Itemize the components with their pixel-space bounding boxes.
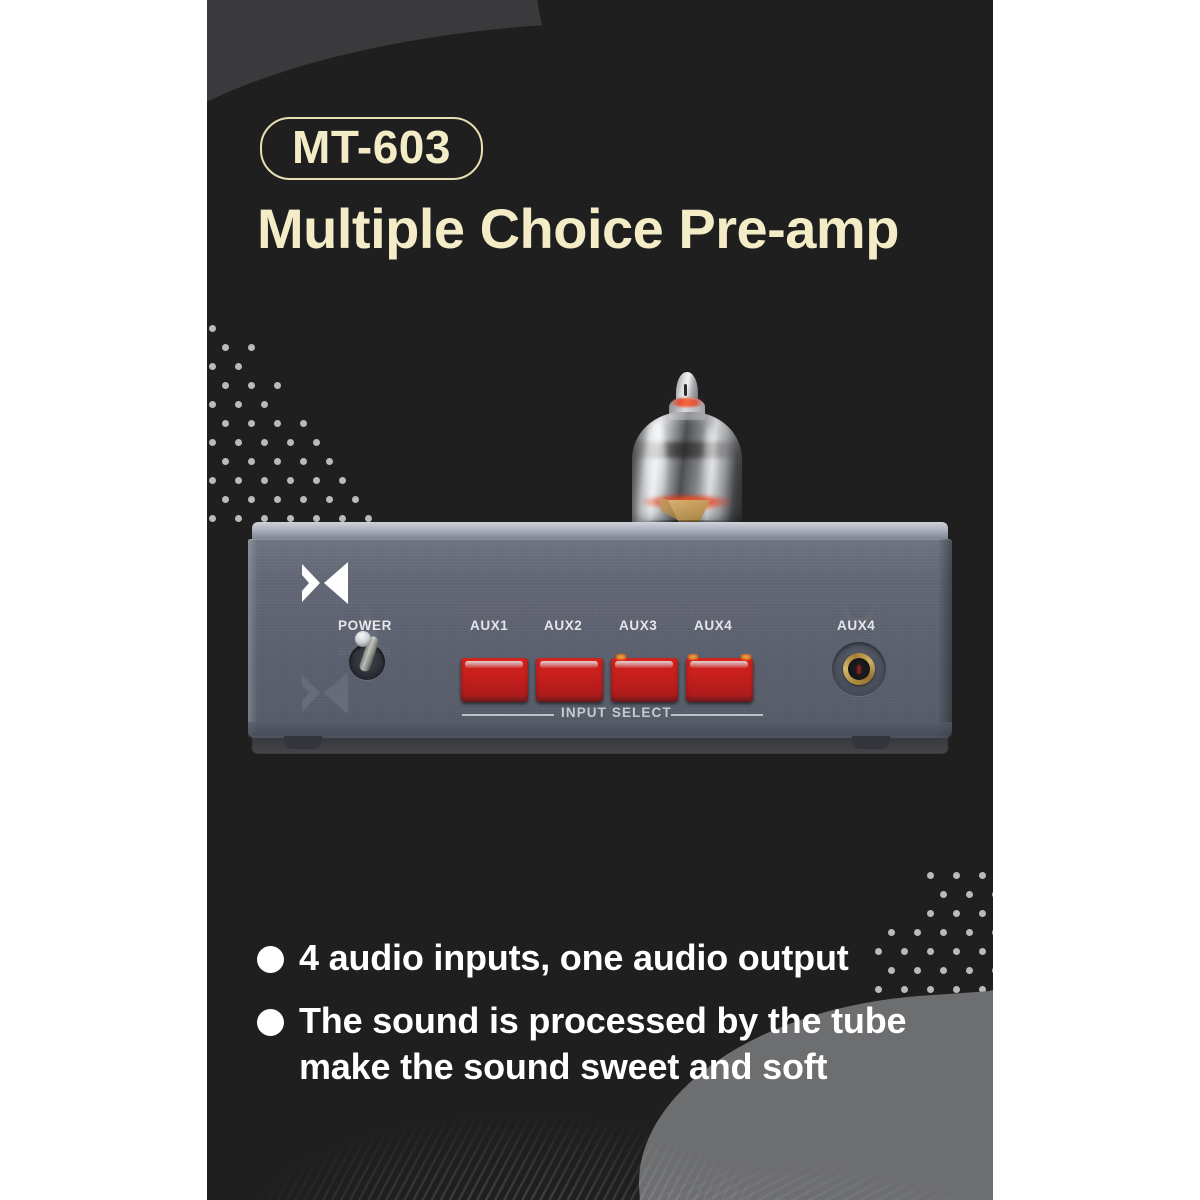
- feature-list: 4 audio inputs, one audio output The sou…: [257, 935, 977, 1107]
- power-switch[interactable]: [349, 644, 385, 680]
- grid-dot: [274, 382, 281, 389]
- grid-dot: [940, 891, 947, 898]
- poster-root: MT-603 Multiple Choice Pre-amp: [0, 0, 1200, 1200]
- grid-dot: [222, 496, 229, 503]
- feature-text-1: 4 audio inputs, one audio output: [299, 935, 849, 980]
- grid-dot: [953, 872, 960, 879]
- grid-dot: [365, 515, 372, 522]
- tube-neck-glow: [670, 398, 704, 407]
- grid-dot: [248, 458, 255, 465]
- grid-dot: [953, 910, 960, 917]
- grid-dot: [235, 515, 242, 522]
- grid-dot: [248, 420, 255, 427]
- grid-dot: [235, 401, 242, 408]
- grid-dot: [287, 515, 294, 522]
- grid-dot: [248, 496, 255, 503]
- headphone-jack[interactable]: [832, 642, 886, 696]
- jack-inner-contact: [857, 665, 861, 674]
- input-button-aux2[interactable]: [536, 658, 603, 702]
- grid-dot: [979, 872, 986, 879]
- grid-dot: [992, 967, 993, 974]
- chassis-foot-left: [284, 736, 322, 749]
- led-indicator-aux4: [688, 654, 698, 660]
- grid-dot: [966, 891, 973, 898]
- grid-dot: [209, 439, 216, 446]
- grid-dot: [339, 477, 346, 484]
- grid-dot: [326, 496, 333, 503]
- grid-dot: [235, 439, 242, 446]
- preamp-device: POWER AUX1 AUX2 AUX3 AUX4 INPUT SELECT A…: [248, 522, 952, 754]
- grid-dot: [927, 872, 934, 879]
- grid-dot: [248, 382, 255, 389]
- grid-dot: [326, 458, 333, 465]
- grid-dot: [287, 439, 294, 446]
- input-button-aux4[interactable]: [686, 658, 753, 702]
- grid-dot: [300, 420, 307, 427]
- grid-dot: [274, 458, 281, 465]
- aux4-label: AUX4: [694, 618, 732, 633]
- grid-dot: [287, 477, 294, 484]
- grid-dot: [979, 910, 986, 917]
- grid-dot: [339, 515, 346, 522]
- grid-dot: [992, 929, 993, 936]
- grid-dot: [313, 515, 320, 522]
- led-indicator-aux4-right: [741, 654, 751, 660]
- input-select-rule-right: [671, 714, 763, 716]
- grid-dot: [209, 363, 216, 370]
- grid-dot: [313, 477, 320, 484]
- bullet-dot-icon: [257, 1009, 284, 1036]
- input-select-label: INPUT SELECT: [561, 705, 672, 720]
- aux3-label: AUX3: [619, 618, 657, 633]
- input-select-rule-left: [462, 714, 554, 716]
- chassis-right-bevel: [938, 539, 952, 734]
- chassis-bottom-edge: [248, 722, 952, 738]
- jack-hole: [848, 658, 870, 680]
- jack-gold-ring: [843, 653, 875, 685]
- tube-glass-envelope: [632, 412, 742, 530]
- grid-dot: [261, 477, 268, 484]
- grid-dot: [927, 910, 934, 917]
- input-button-aux1[interactable]: [461, 658, 528, 702]
- grid-dot: [222, 458, 229, 465]
- grid-dot: [222, 382, 229, 389]
- output-jack-label: AUX4: [837, 618, 875, 633]
- grid-dot: [261, 439, 268, 446]
- led-indicator-aux3: [616, 654, 626, 660]
- grid-dot: [248, 344, 255, 351]
- grid-dot: [209, 325, 216, 332]
- grid-dot: [209, 515, 216, 522]
- model-badge: MT-603: [260, 117, 483, 180]
- grid-dot: [992, 891, 993, 898]
- feature-text-2: The sound is processed by the tube make …: [299, 998, 906, 1089]
- grid-dot: [300, 496, 307, 503]
- page-title: Multiple Choice Pre-amp: [257, 196, 987, 261]
- xduoo-logo-icon: [300, 558, 352, 610]
- aux2-label: AUX2: [544, 618, 582, 633]
- grid-dot: [313, 439, 320, 446]
- feature-item-2: The sound is processed by the tube make …: [257, 998, 977, 1089]
- grid-dot: [235, 363, 242, 370]
- feature-item-1: 4 audio inputs, one audio output: [257, 935, 977, 980]
- grid-dot: [352, 496, 359, 503]
- grid-dot: [235, 477, 242, 484]
- grid-dot: [979, 948, 986, 955]
- grid-dot: [209, 401, 216, 408]
- grid-dot: [274, 496, 281, 503]
- grid-dot: [261, 515, 268, 522]
- aux1-label: AUX1: [470, 618, 508, 633]
- bullet-dot-icon: [257, 946, 284, 973]
- grid-dot: [222, 420, 229, 427]
- poster-canvas: MT-603 Multiple Choice Pre-amp: [207, 0, 993, 1200]
- input-button-aux3[interactable]: [611, 658, 678, 702]
- grid-dot: [300, 458, 307, 465]
- vacuum-tube: [612, 372, 762, 532]
- grid-dot: [274, 420, 281, 427]
- grid-dot: [222, 344, 229, 351]
- chassis-left-bevel: [248, 539, 258, 734]
- grid-dot: [209, 477, 216, 484]
- grid-dot: [261, 401, 268, 408]
- chassis-foot-right: [852, 736, 890, 749]
